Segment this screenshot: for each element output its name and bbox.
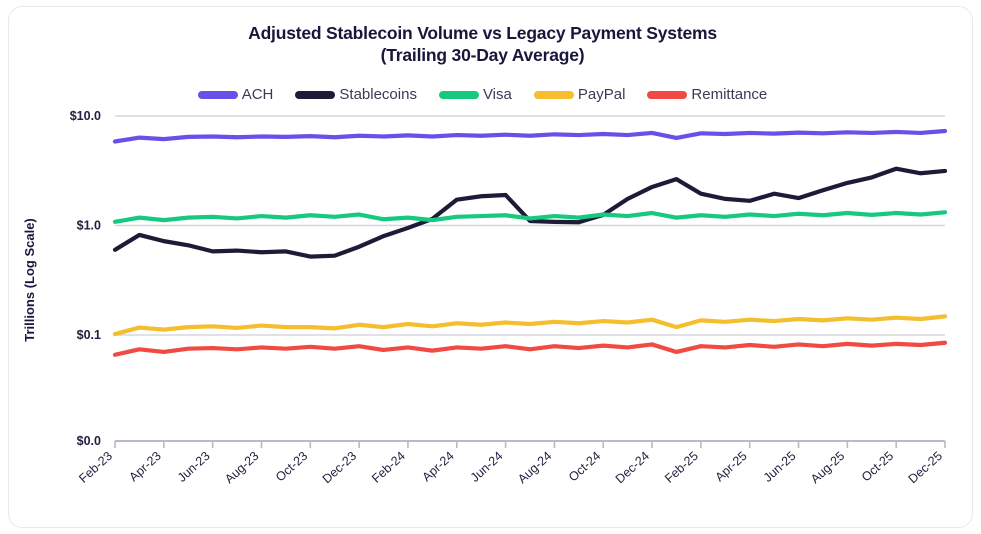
- x-axis-tick-label: Aug-25: [808, 449, 847, 486]
- x-axis-tick-label: Oct-24: [566, 449, 603, 485]
- x-axis-tick-label: Apr-23: [127, 449, 164, 485]
- x-axis-tick-label: Aug-24: [515, 449, 554, 486]
- y-axis-tick-label: $0.0: [77, 434, 101, 448]
- y-axis-tick-label: $0.1: [77, 328, 101, 342]
- series-line-ach: [115, 131, 945, 142]
- y-axis-tick-label: $1.0: [77, 219, 101, 233]
- y-axis-tick-label: $10.0: [70, 109, 101, 123]
- x-axis-tick-label: Jun-23: [175, 449, 213, 485]
- x-axis-tick-label: Oct-25: [859, 449, 896, 485]
- chart-plot-area: $10.0$1.0$0.1$0.0Trillions (Log Scale)Fe…: [0, 0, 981, 534]
- x-axis-tick-label: Jun-24: [468, 449, 506, 485]
- y-axis-title: Trillions (Log Scale): [22, 218, 37, 342]
- x-axis-tick-label: Dec-23: [320, 449, 359, 486]
- x-axis-tick-label: Feb-23: [76, 449, 115, 486]
- series-line-stablecoins: [115, 169, 945, 257]
- series-line-visa: [115, 212, 945, 222]
- x-axis-tick-label: Jun-25: [761, 449, 799, 485]
- x-axis-tick-label: Oct-23: [273, 449, 310, 485]
- x-axis-tick-label: Feb-25: [662, 449, 701, 486]
- chart-screenshot: Adjusted Stablecoin Volume vs Legacy Pay…: [0, 0, 981, 534]
- x-axis-tick-label: Dec-25: [906, 449, 945, 486]
- x-axis-tick-label: Apr-25: [712, 449, 749, 485]
- x-axis-tick-label: Dec-24: [613, 449, 652, 486]
- x-axis-tick-label: Feb-24: [369, 449, 408, 486]
- series-line-paypal: [115, 316, 945, 334]
- series-line-remittance: [115, 343, 945, 355]
- x-axis-tick-label: Apr-24: [420, 449, 457, 485]
- x-axis-tick-label: Aug-23: [222, 449, 261, 486]
